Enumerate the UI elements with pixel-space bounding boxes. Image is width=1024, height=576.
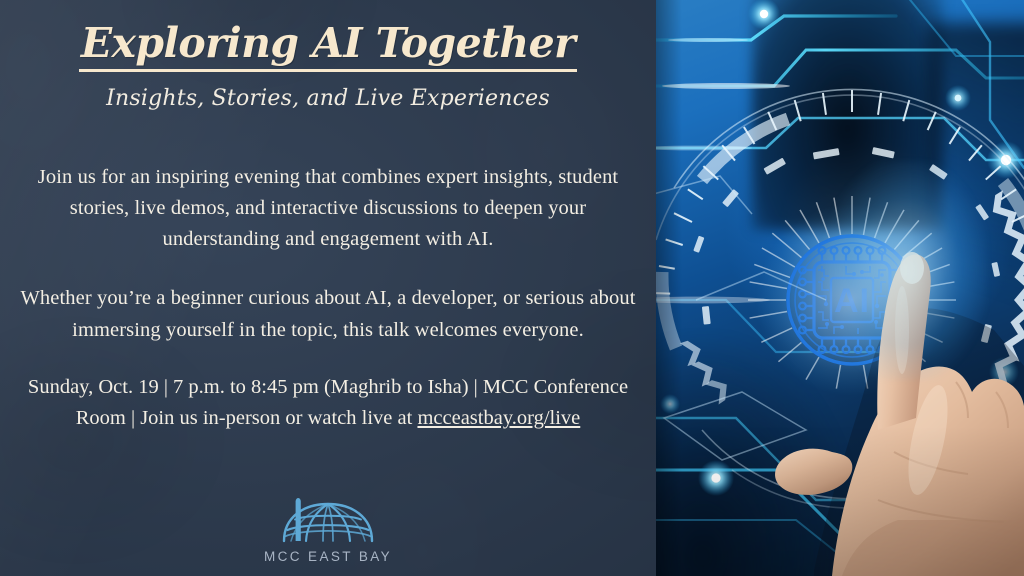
ai-hero-image: AI [656, 0, 1024, 576]
live-stream-link[interactable]: mcceastbay.org/live [417, 407, 580, 429]
body-paragraph-1: Join us for an inspiring evening that co… [16, 162, 640, 255]
body-copy: Join us for an inspiring evening that co… [16, 162, 640, 346]
event-details-text: Sunday, Oct. 19 | 7 p.m. to 8:45 pm (Mag… [14, 372, 642, 434]
organization-logo: MCC EAST BAY [0, 495, 656, 564]
event-details: Sunday, Oct. 19 | 7 p.m. to 8:45 pm (Mag… [14, 372, 642, 434]
page-title: Exploring AI Together [79, 22, 577, 72]
body-paragraph-2: Whether you’re a beginner curious about … [16, 283, 640, 345]
photo-hud-overlay: AI [656, 0, 1024, 576]
poster-canvas: Exploring AI Together Insights, Stories,… [0, 0, 1024, 576]
mcc-globe-dome-icon [274, 495, 382, 547]
page-subtitle: Insights, Stories, and Live Experiences [0, 86, 656, 111]
title-block: Exploring AI Together Insights, Stories,… [0, 22, 656, 111]
text-panel: Exploring AI Together Insights, Stories,… [0, 0, 656, 576]
minaret-shape [296, 498, 301, 541]
organization-name: MCC EAST BAY [264, 549, 392, 564]
text-panel-content: Exploring AI Together Insights, Stories,… [0, 0, 656, 576]
